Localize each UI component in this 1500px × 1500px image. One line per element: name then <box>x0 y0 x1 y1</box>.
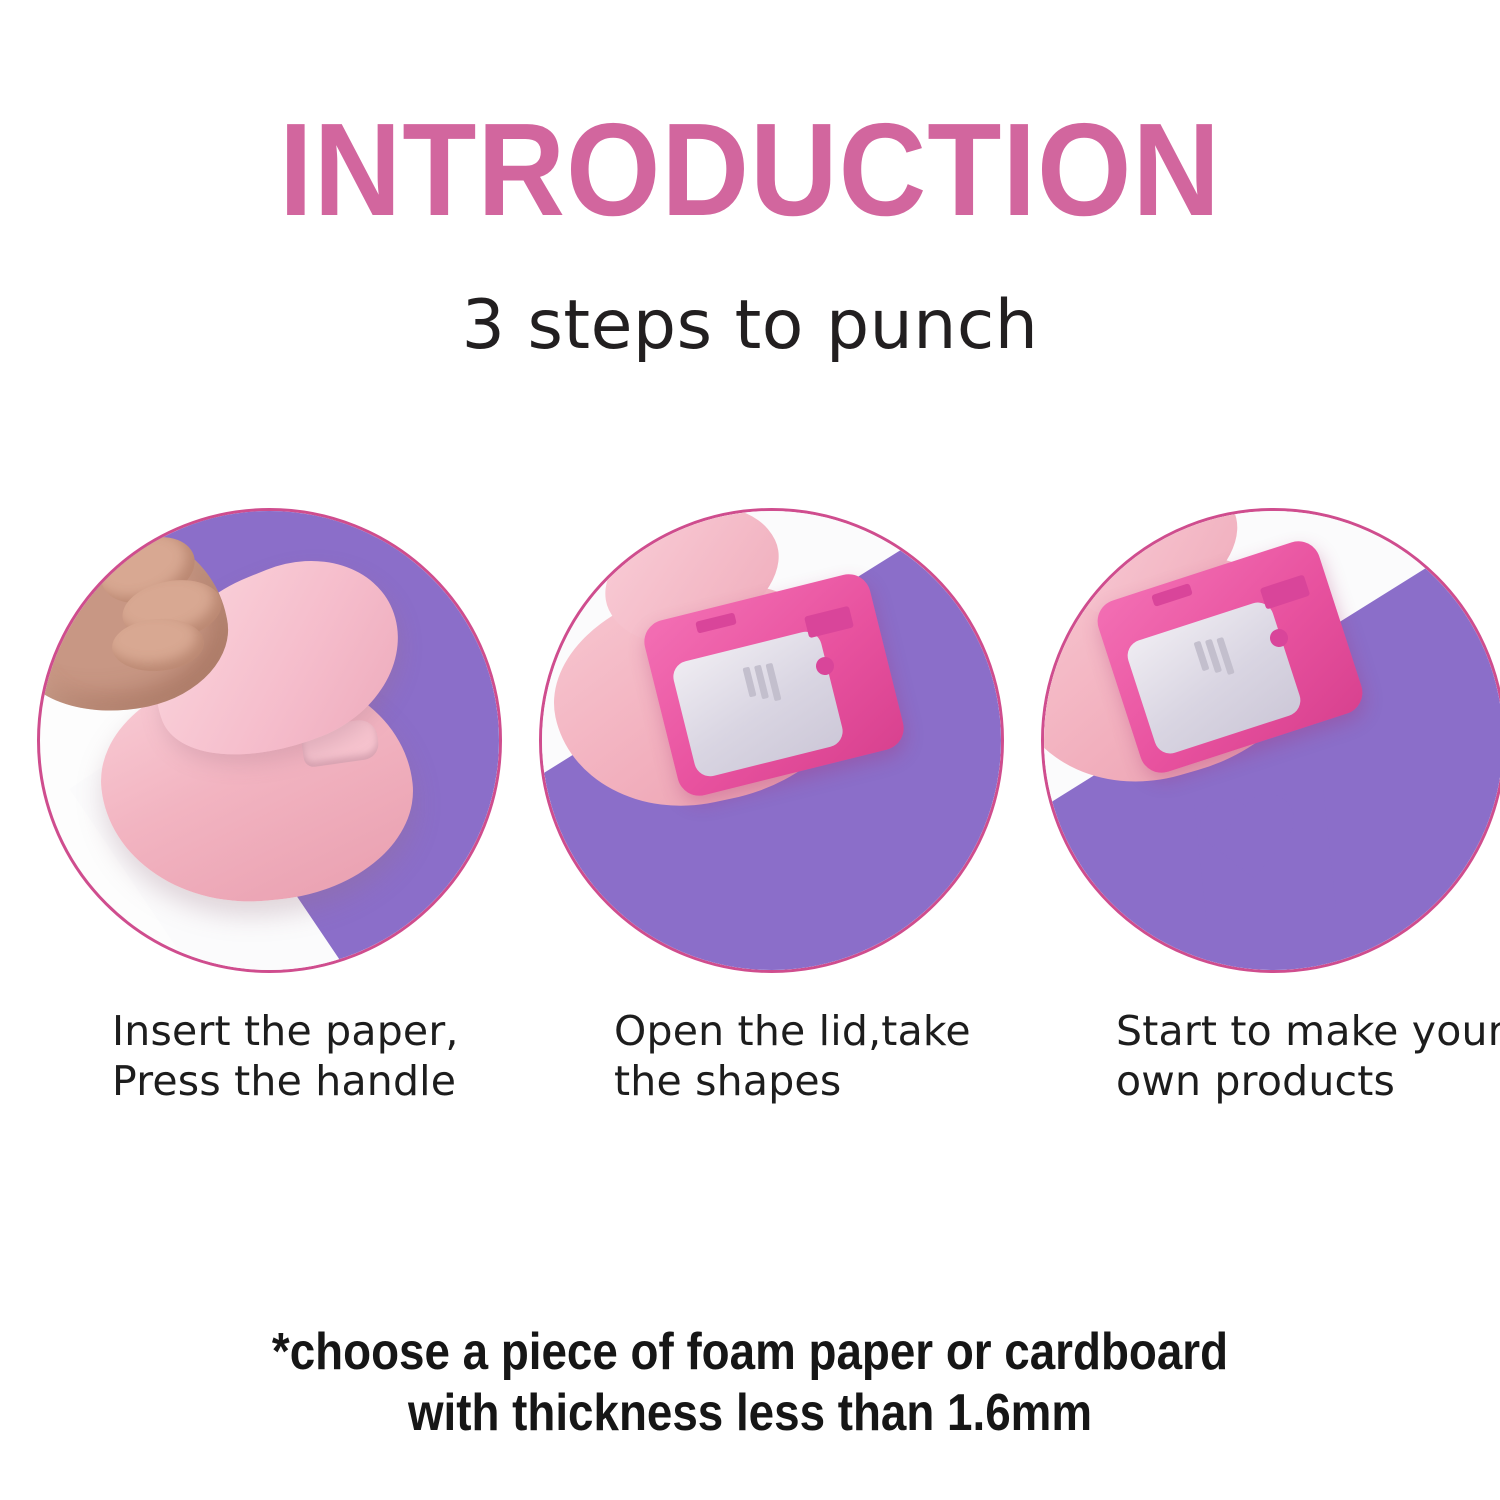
step-2-photo <box>539 508 1004 973</box>
step-2: Open the lid,take the shapes <box>539 508 1004 973</box>
step-1-caption: Insert the paper, Press the handle <box>112 1006 459 1106</box>
step-2-caption: Open the lid,take the shapes <box>614 1006 971 1106</box>
page-subtitle: 3 steps to punch <box>0 292 1500 360</box>
punched-purple-heart <box>1194 791 1336 922</box>
page-title: INTRODUCTION <box>60 104 1440 236</box>
step-3: Start to make your own products <box>1041 508 1500 973</box>
step-1: Insert the paper, Press the handle <box>37 508 502 973</box>
step-3-photo <box>1041 508 1500 973</box>
steps-row: Insert the paper, Press the handle Open … <box>0 508 1500 973</box>
punch-flipped <box>570 539 900 869</box>
step-1-photo <box>37 508 502 973</box>
step-3-caption: Start to make your own products <box>1116 1006 1500 1106</box>
footnote-note: *choose a piece of foam paper or cardboa… <box>90 1322 1410 1445</box>
